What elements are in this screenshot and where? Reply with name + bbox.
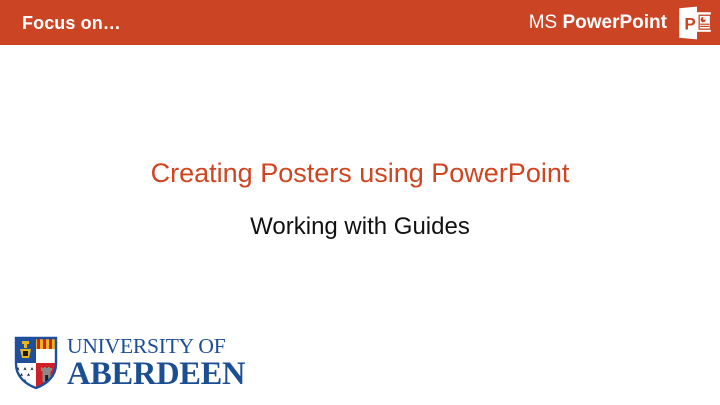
subtitle-block: Working with Guides (0, 213, 720, 241)
brand-group: MS PowerPoint P (529, 6, 714, 40)
logo-line-university-of: UNIVERSITY OF (67, 336, 245, 358)
brand-title: MS PowerPoint (529, 13, 667, 32)
logo-wordmark: UNIVERSITY OF ABERDEEN (67, 336, 245, 391)
aberdeen-crest-icon (14, 336, 58, 390)
svg-text:P: P (684, 14, 695, 33)
brand-name-label: PowerPoint (562, 12, 667, 33)
brand-prefix-label: MS (529, 12, 563, 33)
slide-subtitle: Working with Guides (0, 213, 720, 241)
title-block: Creating Posters using PowerPoint (0, 158, 720, 189)
presentation-slide: Focus on… MS PowerPoint (0, 0, 720, 405)
slide-title: Creating Posters using PowerPoint (0, 158, 720, 189)
focus-on-label: Focus on… (22, 14, 121, 32)
powerpoint-icon: P (676, 6, 714, 40)
university-of-aberdeen-logo: UNIVERSITY OF ABERDEEN (14, 336, 245, 391)
slide-header-bar: Focus on… MS PowerPoint (0, 0, 720, 45)
logo-line-aberdeen: ABERDEEN (67, 358, 245, 391)
